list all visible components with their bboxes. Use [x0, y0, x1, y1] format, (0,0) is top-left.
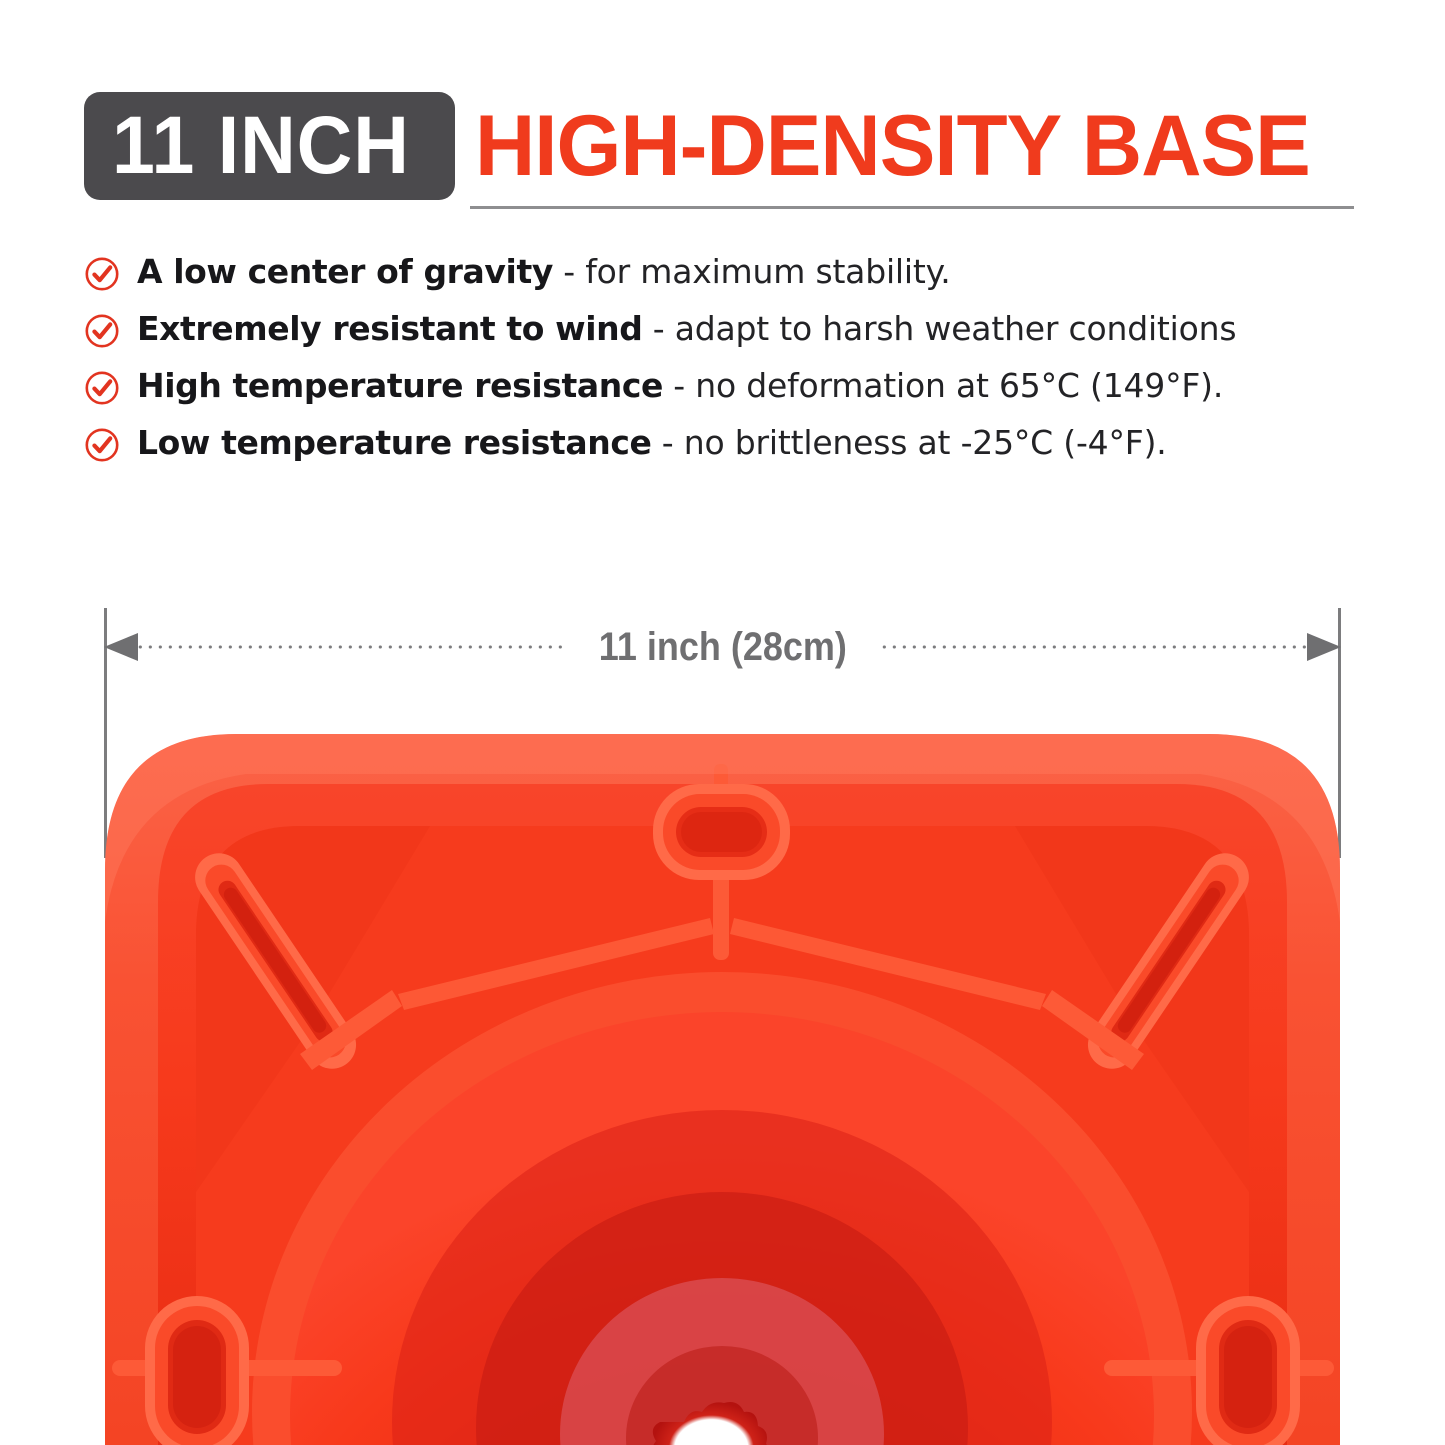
- header: 11 INCH HIGH-DENSITY BASE: [0, 92, 1445, 212]
- check-circle-icon: [84, 256, 120, 292]
- feature-text: A low center of gravity - for maximum st…: [137, 250, 951, 294]
- feature-lead: A low center of gravity: [137, 252, 553, 291]
- feature-lead: High temperature resistance: [137, 366, 663, 405]
- dimension-dots-right: [882, 645, 1307, 649]
- list-item: A low center of gravity - for maximum st…: [84, 250, 1384, 307]
- check-circle-icon: [84, 370, 120, 406]
- product-feature-panel: 11 INCH HIGH-DENSITY BASE A low center o…: [0, 0, 1445, 1445]
- dimension-dots-left: [138, 645, 563, 649]
- feature-text: Low temperature resistance - no brittlen…: [137, 421, 1167, 465]
- header-divider: [470, 206, 1354, 209]
- check-circle-icon: [84, 313, 120, 349]
- feature-lead: Low temperature resistance: [137, 423, 652, 462]
- feature-rest: - no brittleness at -25°C (-4°F).: [652, 423, 1167, 462]
- feature-rest: - no deformation at 65°C (149°F).: [663, 366, 1223, 405]
- feature-text: High temperature resistance - no deforma…: [137, 364, 1223, 408]
- feature-lead: Extremely resistant to wind: [137, 309, 642, 348]
- dimension-label: 11 inch (28cm): [579, 627, 867, 667]
- feature-list: A low center of gravity - for maximum st…: [84, 250, 1384, 478]
- page-title: HIGH-DENSITY BASE: [475, 94, 1310, 198]
- list-item: High temperature resistance - no deforma…: [84, 364, 1384, 421]
- feature-text: Extremely resistant to wind - adapt to h…: [137, 307, 1236, 351]
- inch-badge-label: 11 INCH: [112, 105, 410, 187]
- product-image: [0, 722, 1445, 1445]
- list-item: Extremely resistant to wind - adapt to h…: [84, 307, 1384, 364]
- feature-rest: - for maximum stability.: [553, 252, 951, 291]
- check-circle-icon: [84, 427, 120, 463]
- arrow-right-icon: [1307, 633, 1341, 661]
- dimension-line: 11 inch (28cm): [104, 630, 1341, 664]
- feature-rest: - adapt to harsh weather conditions: [642, 309, 1236, 348]
- cone-base-underside-illustration: [0, 722, 1445, 1445]
- inch-badge: 11 INCH: [84, 92, 455, 200]
- list-item: Low temperature resistance - no brittlen…: [84, 421, 1384, 478]
- arrow-left-icon: [104, 633, 138, 661]
